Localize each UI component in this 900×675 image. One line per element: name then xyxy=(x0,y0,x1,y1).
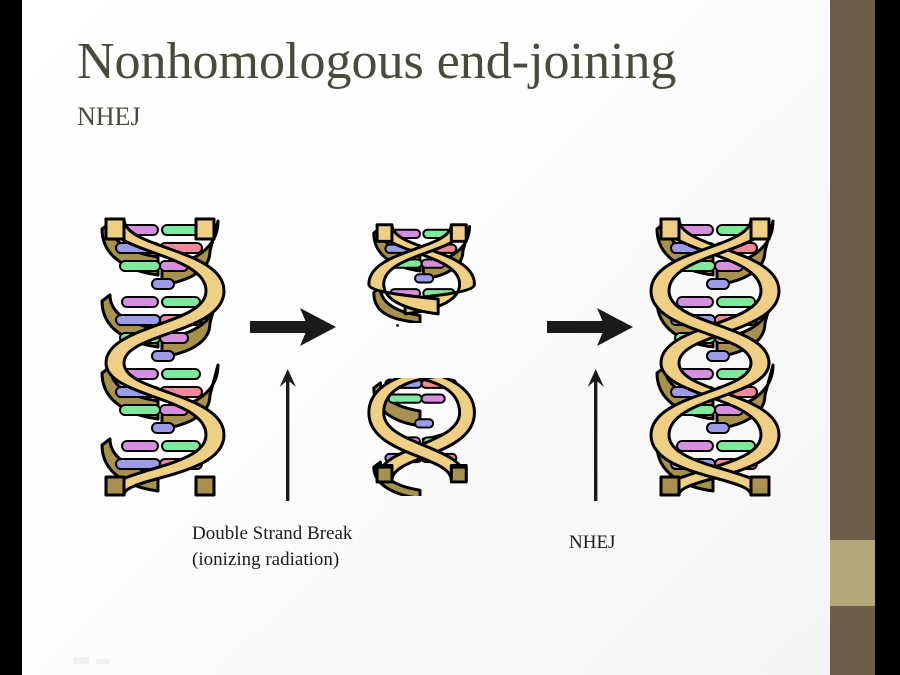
right-letterbox xyxy=(875,0,900,675)
page-subtitle: NHEJ xyxy=(77,104,141,130)
presentation-slide: Nonhomologous end-joining NHEJ xyxy=(0,0,900,675)
right-accent-block xyxy=(830,540,875,606)
caption-nhej: NHEJ xyxy=(569,530,615,556)
nhej-pointer-arrow xyxy=(585,369,607,501)
left-letterbox xyxy=(0,0,22,675)
slide-artifact-2 xyxy=(96,659,110,664)
caption-dsb-line1: Double Strand Break xyxy=(192,521,352,547)
caption-dsb-line2: (ionizing radiation) xyxy=(192,547,352,573)
stray-mark xyxy=(396,324,399,327)
slide-artifact-1 xyxy=(74,657,90,664)
slide-canvas: Nonhomologous end-joining NHEJ xyxy=(22,0,830,675)
page-title: Nonhomologous end-joining xyxy=(77,36,676,88)
broken-dna-fragment-upper xyxy=(354,205,486,323)
intact-dna-helix xyxy=(80,195,240,505)
step-arrow-2 xyxy=(547,306,635,348)
broken-dna-fragment-lower xyxy=(354,378,486,496)
caption-double-strand-break: Double Strand Break (ionizing radiation) xyxy=(192,521,352,572)
step-arrow-1 xyxy=(250,306,338,348)
repaired-dna-helix xyxy=(635,195,795,505)
dsb-pointer-arrow xyxy=(277,369,299,501)
